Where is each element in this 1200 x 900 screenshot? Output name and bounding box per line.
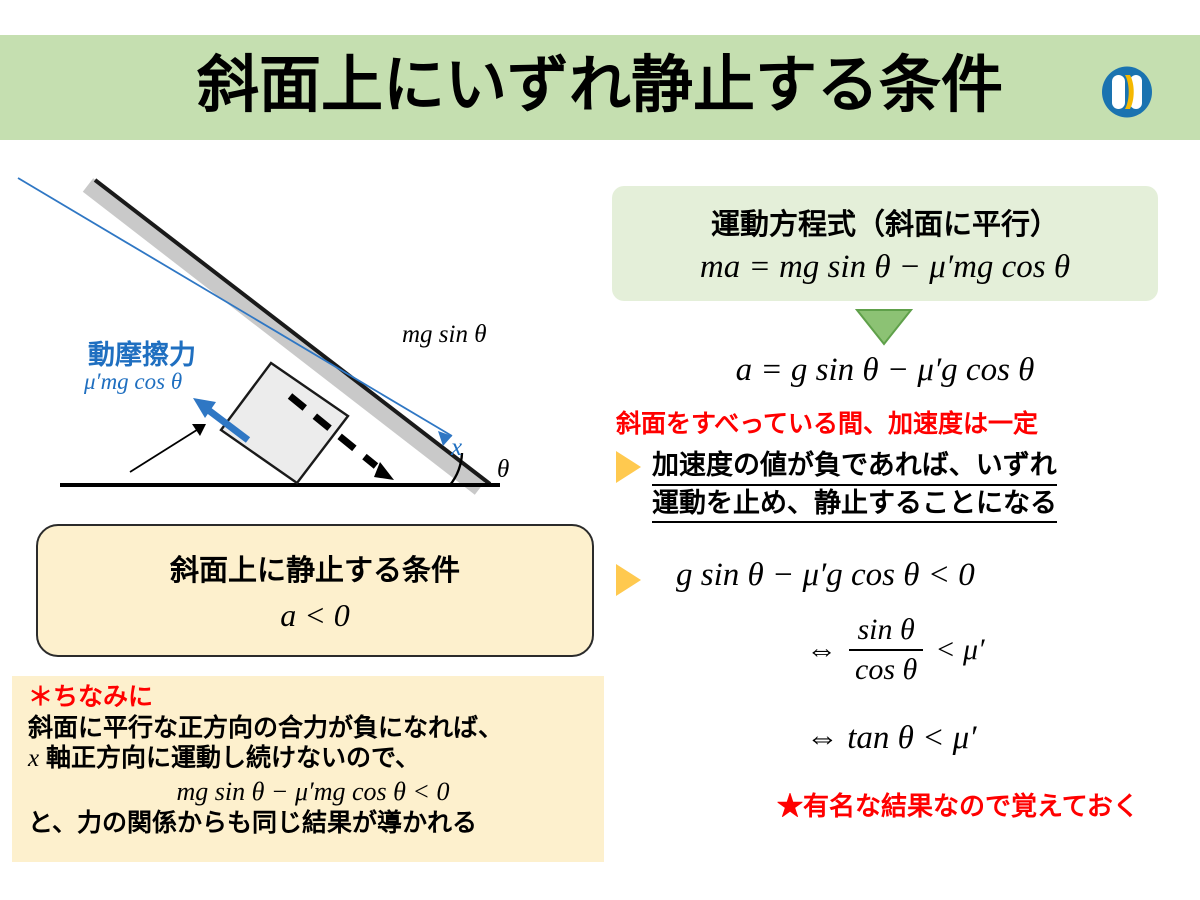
friction-label-line2: μ′mg cos θ [84,369,182,395]
fraction-denominator: cos θ [849,651,923,687]
friction-leader-arrowhead [192,424,206,436]
note-line-2: x 軸正方向に運動し続けないので、 [28,743,592,775]
acceleration-equation: a = g sin θ − μ′g cos θ [612,352,1158,389]
derivation-step-1: g sin θ − μ′g cos θ < 0 [676,557,975,594]
iff-symbol-2: ⇔ [806,720,839,756]
gravity-component-label: mg sin θ [402,321,487,349]
tangent-inequality: tan θ < μ′ [839,720,976,756]
memorize-note: ★有名な結果なので覚えておく [777,786,1139,823]
friction-label-line1: 動摩擦力 [88,333,196,372]
iff-symbol-1: ⇔ [806,632,837,668]
note-formula: mg sin θ − μ′mg cos θ < 0 [28,775,592,809]
title-band: 斜面上にいずれ静止する条件 [0,35,1200,140]
derivation-step-2: ⇔ sin θ cos θ < μ′ [806,613,985,687]
note-line-2-math: x [28,745,39,772]
static-condition-title: 斜面上に静止する条件 [170,547,460,589]
static-condition-box: 斜面上に静止する条件 a < 0 [36,524,594,657]
equation-box-caption: 運動方程式（斜面に平行） [711,201,1059,243]
static-condition-formula: a < 0 [280,597,350,634]
diagram-svg [0,150,620,510]
note-line-3: と、力の関係からも同じ結果が導かれる [28,808,592,839]
equation-of-motion-formula: ma = mg sin θ − μ′mg cos θ [700,249,1070,286]
friction-leader-line [130,428,200,472]
note-heading: ＊ちなみに [28,683,592,713]
note-line-1: 斜面に平行な正方向の合力が負になれば、 [28,713,592,744]
bullet-triangle-icon [613,449,643,485]
green-down-arrow [855,308,913,346]
fraction-numerator: sin θ [851,613,920,649]
tangent-fraction: sin θ cos θ [849,613,923,687]
explanation-line-1: 加速度の値が負であれば、いずれ [652,448,1057,486]
fraction-rhs: < μ′ [935,633,984,667]
negative-acceleration-explanation: 加速度の値が負であれば、いずれ 運動を止め、静止することになる [652,448,1057,523]
inclined-plane-diagram [0,150,620,510]
explanation-line-2: 運動を止め、静止することになる [652,486,1057,524]
brand-logo-icon [1101,66,1153,118]
x-axis-line [18,178,452,436]
angle-label: θ [497,456,509,484]
bullet-triangle-icon-2 [613,562,643,598]
equation-of-motion-box: 運動方程式（斜面に平行） ma = mg sin θ − μ′mg cos θ [612,186,1158,301]
constant-acceleration-note: 斜面をすべっている間、加速度は一定 [616,404,1038,440]
note-line-2-rest: 軸正方向に運動し続けないので、 [39,744,420,772]
derivation-step-3: ⇔ tan θ < μ′ [806,720,976,757]
x-axis-label: x [451,434,462,462]
slide-root: 斜面上にいずれ静止する条件 [0,0,1200,900]
page-title: 斜面上にいずれ静止する条件 [197,55,1003,117]
supplementary-note-box: ＊ちなみに 斜面に平行な正方向の合力が負になれば、 x 軸正方向に運動し続けない… [12,676,604,862]
